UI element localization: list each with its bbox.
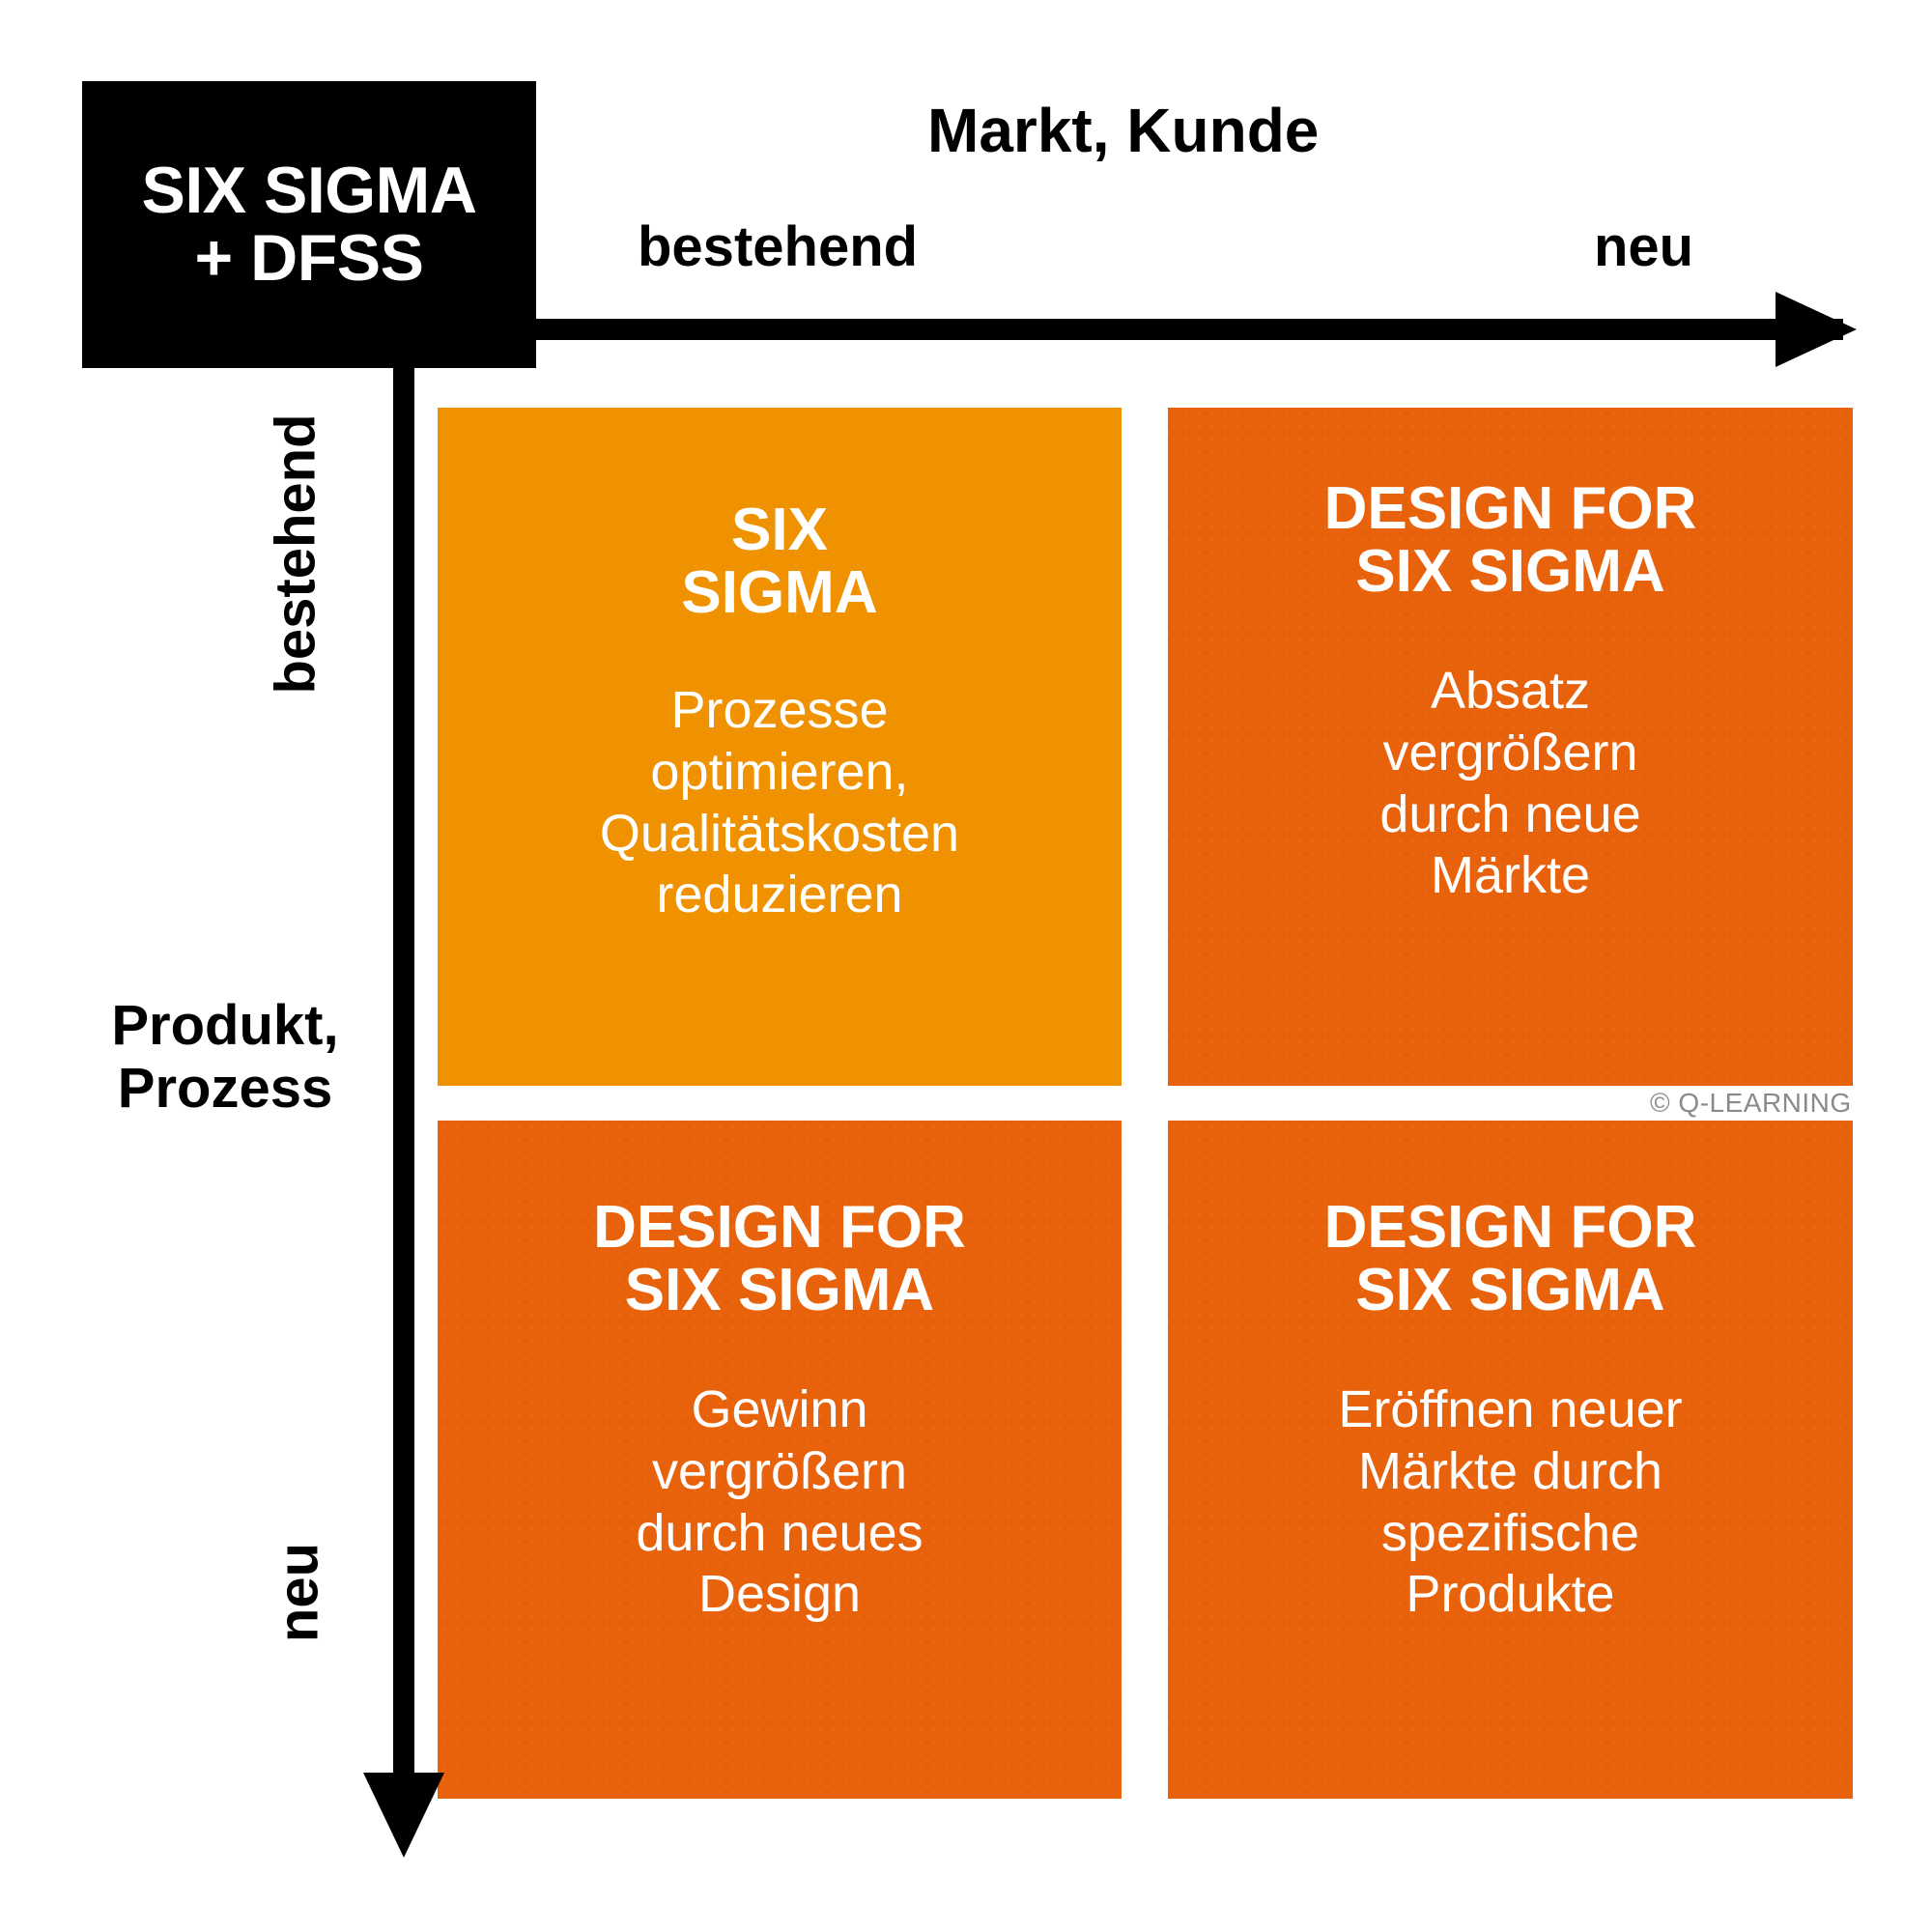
quadrant-top-left-body: Prozesse optimieren, Qualitätskosten red… — [600, 680, 959, 926]
quadrant-top-left-heading: SIX SIGMA — [681, 498, 877, 624]
quadrant-bottom-left[interactable]: DESIGN FOR SIX SIGMA Gewinn vergrößern d… — [438, 1121, 1122, 1799]
quadrant-bottom-left-heading: DESIGN FOR SIX SIGMA — [593, 1196, 966, 1321]
x-axis-label-high: neu — [1594, 214, 1693, 279]
quadrant-bottom-right[interactable]: DESIGN FOR SIX SIGMA Eröffnen neuer Märk… — [1168, 1121, 1853, 1799]
quadrant-top-left[interactable]: SIX SIGMA Prozesse optimieren, Qualitäts… — [438, 408, 1122, 1086]
title-line-2: + DFSS — [195, 225, 424, 292]
x-axis-line — [404, 319, 1843, 340]
y-axis-title: Produkt, Prozess — [75, 995, 375, 1121]
title-line-1: SIX SIGMA — [142, 157, 477, 224]
y-axis-label-low: bestehend — [264, 410, 328, 699]
y-axis-line — [393, 319, 414, 1779]
quadrant-top-right-body: Absatz vergrößern durch neue Märkte — [1379, 661, 1640, 907]
title-block: SIX SIGMA + DFSS — [82, 81, 536, 368]
quadrant-bottom-left-body: Gewinn vergrößern durch neues Design — [636, 1379, 923, 1626]
matrix-diagram: SIX SIGMA + DFSS Markt, Kunde bestehend … — [0, 0, 1932, 1932]
copyright-notice: © Q-LEARNING — [1650, 1088, 1852, 1119]
y-axis-arrowhead-icon — [363, 1773, 444, 1858]
quadrant-bottom-right-heading: DESIGN FOR SIX SIGMA — [1324, 1196, 1697, 1321]
x-axis-label-low: bestehend — [638, 214, 918, 279]
y-axis-label-high: neu — [267, 1516, 331, 1670]
x-axis-arrowhead-icon — [1776, 292, 1857, 367]
quadrant-bottom-right-body: Eröffnen neuer Märkte durch spezifische … — [1338, 1379, 1682, 1626]
quadrant-top-right-heading: DESIGN FOR SIX SIGMA — [1324, 477, 1697, 603]
x-axis-title: Markt, Kunde — [927, 95, 1319, 166]
quadrant-top-right[interactable]: DESIGN FOR SIX SIGMA Absatz vergrößern d… — [1168, 408, 1853, 1086]
